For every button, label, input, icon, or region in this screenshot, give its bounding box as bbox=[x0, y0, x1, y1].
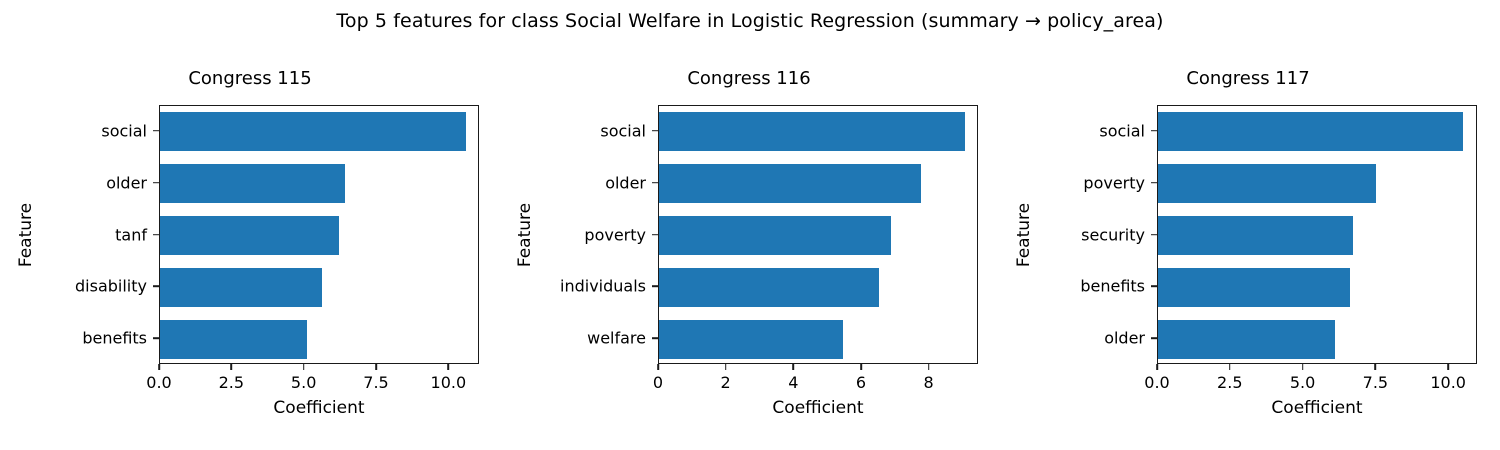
x-tick-mark bbox=[657, 364, 659, 370]
x-tick-label: 2 bbox=[721, 373, 731, 392]
x-tick-label: 0 bbox=[653, 373, 663, 392]
x-tick-mark bbox=[1447, 364, 1449, 370]
x-axis-label: Coefficient bbox=[159, 398, 479, 418]
subplot-title: Congress 116 bbox=[499, 68, 999, 89]
x-tick-mark bbox=[1375, 364, 1377, 370]
bar bbox=[160, 164, 345, 203]
x-tick-mark bbox=[928, 364, 930, 370]
plot-axes bbox=[159, 105, 479, 364]
x-tick-mark bbox=[793, 364, 795, 370]
y-tick-label: security bbox=[1081, 225, 1145, 244]
bar bbox=[160, 268, 322, 307]
x-axis-label: Coefficient bbox=[658, 398, 978, 418]
x-tick-mark bbox=[231, 364, 233, 370]
subplot-3: Congress 117Featuresocialpovertysecurity… bbox=[998, 0, 1498, 450]
bar bbox=[1158, 268, 1350, 307]
bar bbox=[1158, 320, 1335, 359]
y-tick-label: benefits bbox=[82, 329, 147, 348]
bar bbox=[1158, 164, 1376, 203]
x-tick-mark bbox=[448, 364, 450, 370]
y-tick-label: benefits bbox=[1080, 277, 1145, 296]
x-tick-label: 0.0 bbox=[146, 373, 171, 392]
y-tick-label: social bbox=[1099, 121, 1145, 140]
y-tick-label: older bbox=[1104, 329, 1145, 348]
y-tick-label: poverty bbox=[584, 225, 646, 244]
x-tick-label: 5.0 bbox=[291, 373, 316, 392]
plot-axes bbox=[658, 105, 978, 364]
x-tick-label: 10.0 bbox=[1430, 373, 1466, 392]
bar bbox=[1158, 216, 1353, 255]
y-tick-label: tanf bbox=[115, 225, 147, 244]
plot-area bbox=[659, 106, 977, 363]
bar bbox=[160, 112, 466, 151]
y-tick-label: disability bbox=[75, 277, 147, 296]
bar bbox=[659, 320, 843, 359]
y-tick-labels: socialolderpovertyindividualswelfare bbox=[499, 105, 658, 364]
subplot-1: Congress 115Featuresocialoldertanfdisabi… bbox=[0, 0, 500, 450]
y-tick-label: older bbox=[605, 173, 646, 192]
bar bbox=[160, 216, 339, 255]
x-tick-label: 7.5 bbox=[1363, 373, 1388, 392]
y-tick-label: social bbox=[600, 121, 646, 140]
x-tick-label: 4 bbox=[788, 373, 798, 392]
x-tick-label: 6 bbox=[856, 373, 866, 392]
subplot-title: Congress 117 bbox=[998, 68, 1498, 89]
plot-area bbox=[160, 106, 478, 363]
x-tick-label: 7.5 bbox=[363, 373, 388, 392]
bar bbox=[659, 268, 879, 307]
x-tick-label: 2.5 bbox=[219, 373, 244, 392]
x-tick-mark bbox=[1229, 364, 1231, 370]
x-tick-label: 8 bbox=[924, 373, 934, 392]
x-tick-mark bbox=[303, 364, 305, 370]
bar bbox=[1158, 112, 1463, 151]
y-tick-label: poverty bbox=[1083, 173, 1145, 192]
subplot-2: Congress 116Featuresocialolderpovertyind… bbox=[499, 0, 999, 450]
x-tick-label: 5.0 bbox=[1290, 373, 1315, 392]
bar bbox=[659, 164, 921, 203]
x-tick-mark bbox=[1302, 364, 1304, 370]
x-tick-label: 0.0 bbox=[1144, 373, 1169, 392]
x-tick-mark bbox=[860, 364, 862, 370]
x-tick-label: 10.0 bbox=[431, 373, 467, 392]
x-tick-mark bbox=[1156, 364, 1158, 370]
x-axis-label: Coefficient bbox=[1157, 398, 1477, 418]
bar bbox=[659, 216, 891, 255]
x-tick-mark bbox=[725, 364, 727, 370]
bar bbox=[659, 112, 965, 151]
y-tick-labels: socialoldertanfdisabilitybenefits bbox=[0, 105, 159, 364]
plot-axes bbox=[1157, 105, 1477, 364]
bar bbox=[160, 320, 307, 359]
x-tick-mark bbox=[375, 364, 377, 370]
y-tick-label: social bbox=[101, 121, 147, 140]
subplot-title: Congress 115 bbox=[0, 68, 500, 89]
y-tick-label: welfare bbox=[587, 329, 646, 348]
x-tick-mark bbox=[158, 364, 160, 370]
y-tick-label: individuals bbox=[560, 277, 646, 296]
y-tick-label: older bbox=[106, 173, 147, 192]
y-tick-labels: socialpovertysecuritybenefitsolder bbox=[998, 105, 1157, 364]
figure-canvas: Top 5 features for class Social Welfare … bbox=[0, 0, 1500, 450]
plot-area bbox=[1158, 106, 1476, 363]
x-tick-label: 2.5 bbox=[1217, 373, 1242, 392]
